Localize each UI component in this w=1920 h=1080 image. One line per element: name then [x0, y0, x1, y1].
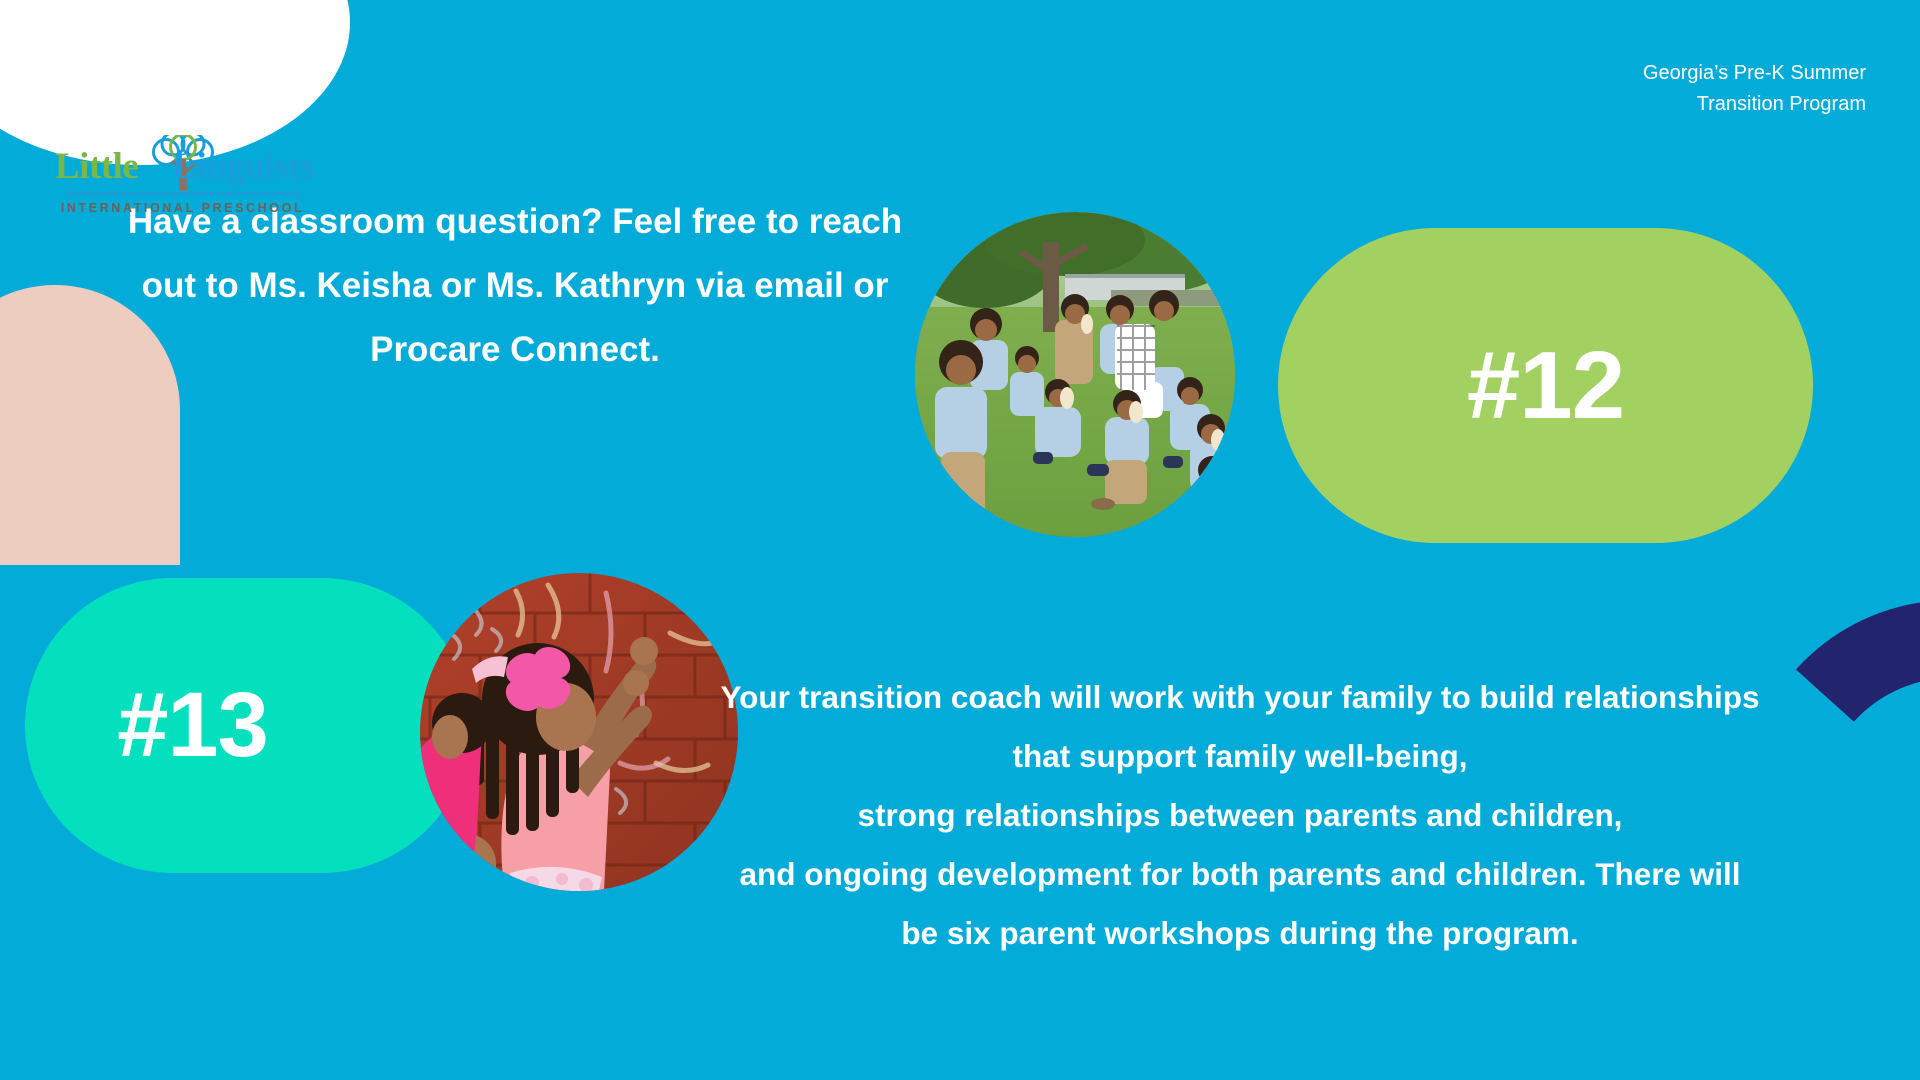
card-13-body-line-4: and ongoing development for both parents…: [560, 845, 1920, 904]
children-sitting-on-grass-photo: [915, 212, 1235, 537]
card-number-badge-12: #12: [1278, 228, 1813, 543]
logo-word-primary: Little: [55, 146, 138, 187]
card-number-13-label: #13: [117, 673, 268, 778]
logo-wordmark: LittleLinguists: [55, 145, 310, 189]
logo-subtitle: INTERNATIONAL PRESCHOOL: [55, 201, 310, 215]
card-13-body-line-3: strong relationships between parents and…: [560, 786, 1920, 845]
program-title-line-2: Transition Program: [1446, 89, 1866, 120]
card-13-body-line-1: Your transition coach will work with you…: [560, 668, 1920, 727]
card-number-badge-13: #13: [25, 578, 470, 873]
card-12-headline: Have a classroom question? Feel free to …: [120, 190, 910, 382]
card-13-body-line-5: be six parent workshops during the progr…: [560, 904, 1920, 963]
card-13-body: Your transition coach will work with you…: [560, 668, 1920, 963]
program-title-line-1: Georgia’s Pre-K Summer: [1446, 58, 1866, 89]
card-13-body-line-2: that support family well-being,: [560, 727, 1920, 786]
logo-word-secondary: Linguists: [172, 146, 314, 187]
card-number-12-label: #12: [1467, 331, 1624, 441]
program-title: Georgia’s Pre-K Summer Transition Progra…: [1446, 58, 1866, 120]
slide-canvas: LittleLinguists INTERNATIONAL PRESCHOOL …: [0, 0, 1920, 1080]
brand-logo[interactable]: LittleLinguists INTERNATIONAL PRESCHOOL: [55, 135, 310, 215]
logo-divider-rule: [70, 192, 296, 195]
